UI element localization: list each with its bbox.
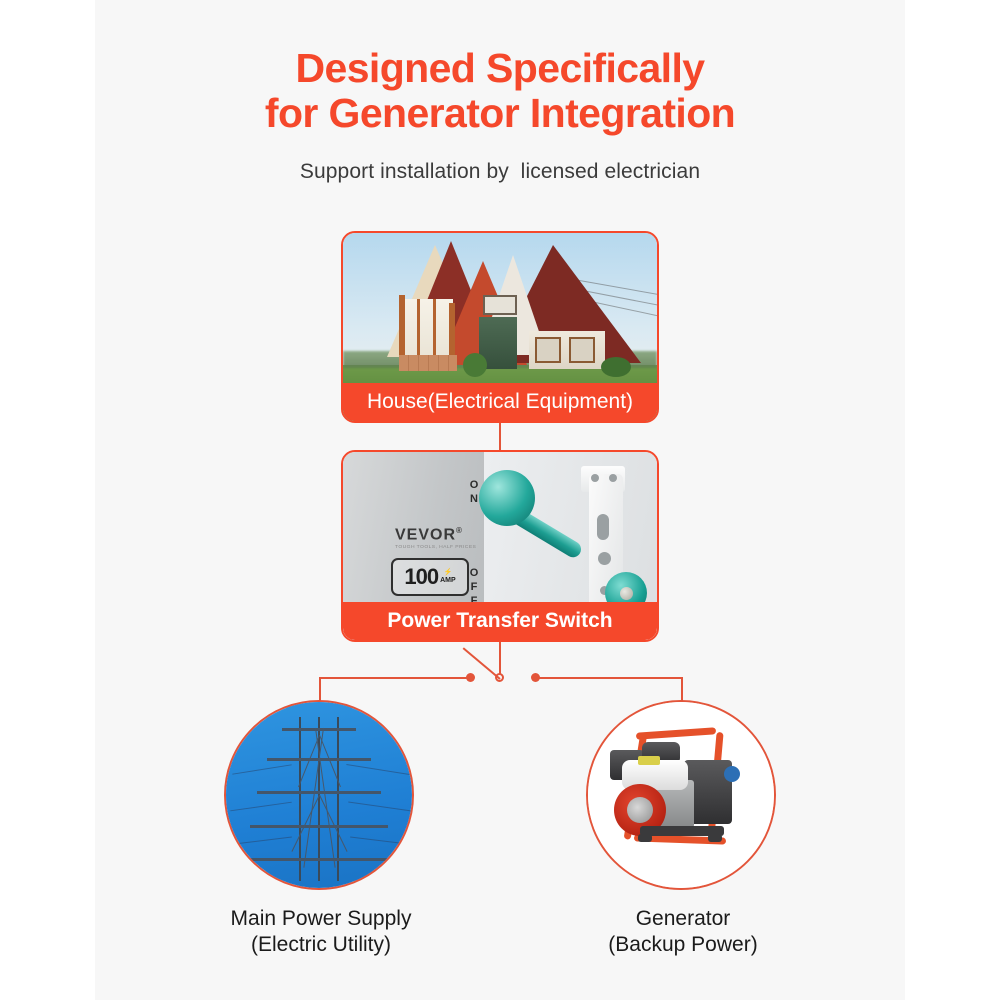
bracket-slot — [597, 514, 609, 540]
amp-rating-unit: ⚡ AMP — [440, 569, 456, 585]
lightning-bolt-icon: ⚡ — [444, 569, 453, 576]
house-card-label: House(Electrical Equipment) — [343, 383, 657, 421]
amp-rating-badge: 100 ⚡ AMP — [391, 558, 469, 596]
node-label-main-power-supply: Main Power Supply (Electric Utility) — [224, 906, 418, 958]
connector-switch-trunk — [499, 642, 501, 675]
switch-lever-knob[interactable] — [479, 470, 535, 526]
amp-unit-text: AMP — [440, 577, 456, 584]
subtitle: Support installation by licensed electri… — [0, 160, 1000, 184]
house-window-right — [535, 337, 561, 363]
house-shrub — [601, 357, 631, 377]
pylon-mast — [299, 717, 301, 881]
node-label-generator: Generator (Backup Power) — [586, 906, 780, 958]
mounting-screw — [591, 474, 599, 482]
house-window-mullion — [417, 299, 420, 363]
recoil-center — [627, 797, 653, 823]
pylon-mast — [337, 717, 339, 881]
connector-left-lead — [388, 677, 470, 679]
vevor-brand-logo: VEVOR® — [395, 526, 463, 544]
mounting-screw — [609, 474, 617, 482]
bracket-hole — [598, 552, 611, 565]
vevor-brand-text: VEVOR — [395, 526, 456, 543]
registered-trademark-icon: ® — [456, 526, 463, 535]
house-brick-base — [399, 355, 457, 371]
generator-label — [638, 756, 660, 765]
connector-house-to-switch — [499, 423, 501, 451]
amp-rating-number: 100 — [404, 564, 438, 590]
left-terminal-dot-icon — [466, 673, 475, 682]
generator-photo — [586, 700, 776, 890]
house-window-right — [569, 337, 595, 363]
pylon-crossarm — [250, 825, 388, 828]
house-card: House(Electrical Equipment) — [341, 231, 659, 423]
connector-right-branch — [536, 677, 682, 679]
node-generator: Generator (Backup Power) — [586, 700, 780, 958]
generator-foot — [638, 834, 652, 842]
switch-card: VEVOR® TOUGH TOOLS, HALF PRICES 100 ⚡ AM… — [341, 450, 659, 642]
house-window-center — [483, 295, 517, 315]
pylon-crossarm — [244, 858, 394, 861]
connector-left-branch — [319, 677, 391, 679]
house-shrub — [463, 353, 487, 377]
node-main-power-supply: Main Power Supply (Electric Utility) — [224, 700, 418, 958]
house-window-mullion — [433, 299, 436, 363]
headline-line-2: for Generator Integration — [0, 91, 1000, 136]
headline-line-1: Designed Specifically — [0, 46, 1000, 91]
generator-foot — [708, 834, 722, 842]
infographic-page: Designed Specifically for Generator Inte… — [0, 0, 1000, 1000]
switch-card-label: Power Transfer Switch — [343, 602, 657, 640]
transmission-tower-photo — [224, 700, 414, 890]
generator-outlet — [724, 766, 740, 782]
pylon-crossarm — [282, 728, 356, 731]
header: Designed Specifically for Generator Inte… — [0, 46, 1000, 184]
vevor-tagline: TOUGH TOOLS, HALF PRICES — [395, 544, 476, 549]
dial-center-screw — [620, 587, 633, 600]
pylon-mast — [318, 717, 320, 881]
